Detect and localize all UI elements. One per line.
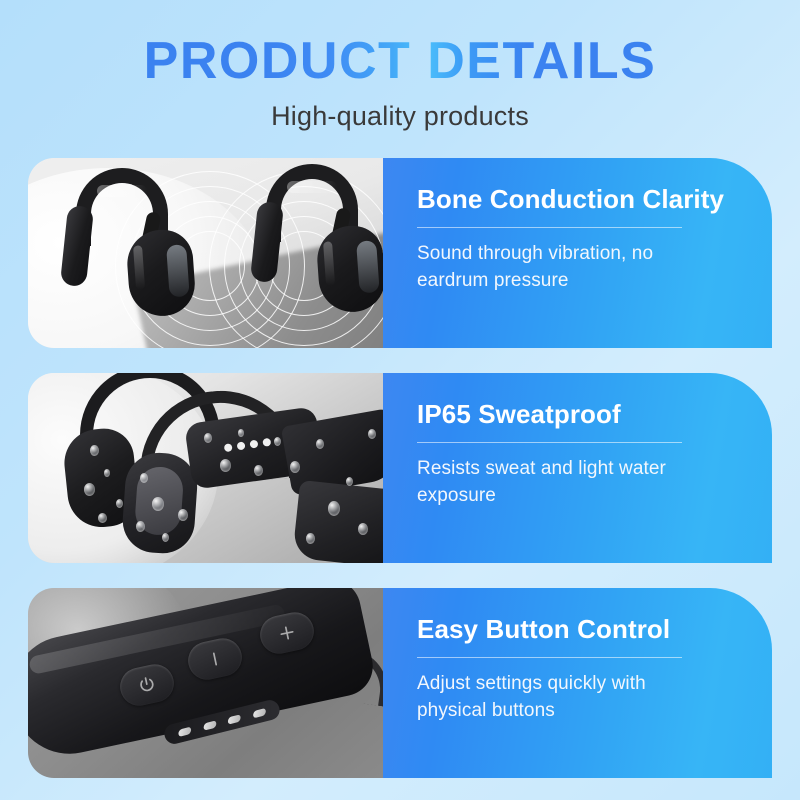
- water-droplet: [254, 465, 263, 476]
- water-droplet: [90, 445, 99, 456]
- water-droplet: [136, 521, 145, 532]
- water-droplet: [220, 459, 231, 472]
- feature-card-list: Bone Conduction Clarity Sound through vi…: [28, 158, 772, 800]
- water-droplet: [204, 433, 212, 443]
- led-slot: [178, 726, 191, 736]
- product-image-waterproof: [28, 373, 383, 563]
- water-droplet: [178, 509, 188, 521]
- water-droplet: [316, 439, 324, 449]
- product-image-bone-conduction: [28, 158, 383, 348]
- power-icon: [135, 673, 159, 697]
- earhook-arm: [250, 201, 284, 283]
- water-droplet: [358, 523, 368, 535]
- feature-title: Easy Button Control: [417, 614, 742, 645]
- plus-icon: [275, 621, 299, 645]
- page-header: PRODUCT DETAILS High-quality products: [0, 0, 800, 132]
- feature-description: Resists sweat and light water exposure: [417, 456, 717, 510]
- feature-text-panel: Easy Button Control Adjust settings quic…: [383, 588, 772, 778]
- water-droplet: [104, 469, 110, 477]
- led-dot: [262, 438, 271, 447]
- water-droplet: [140, 473, 148, 483]
- water-droplet: [328, 501, 340, 516]
- feature-description: Sound through vibration, no eardrum pres…: [417, 241, 717, 295]
- minus-icon: [203, 647, 227, 671]
- water-droplet: [346, 477, 353, 486]
- feature-description: Adjust settings quickly with physical bu…: [417, 671, 717, 725]
- neckband-lower: [292, 480, 383, 563]
- led-dot: [224, 443, 233, 452]
- led-slot: [228, 714, 241, 724]
- led-dot: [237, 441, 246, 450]
- feature-divider: [417, 657, 682, 658]
- feature-card: Easy Button Control Adjust settings quic…: [28, 588, 772, 778]
- product-image-button-control: [28, 588, 383, 778]
- water-droplet: [116, 499, 123, 508]
- water-droplet: [98, 513, 107, 523]
- water-droplet: [162, 533, 169, 542]
- page-title: PRODUCT DETAILS: [0, 34, 800, 89]
- earhook-transducer-pod: [125, 228, 197, 318]
- water-droplet: [238, 429, 244, 437]
- water-droplet: [368, 429, 376, 439]
- feature-text-panel: Bone Conduction Clarity Sound through vi…: [383, 158, 772, 348]
- water-droplet: [84, 483, 95, 496]
- earhook-right: [248, 160, 383, 330]
- feature-card: Bone Conduction Clarity Sound through vi…: [28, 158, 772, 348]
- page-subtitle: High-quality products: [0, 101, 800, 132]
- water-droplet: [306, 533, 315, 544]
- led-slot: [253, 708, 266, 718]
- water-droplet: [152, 497, 164, 511]
- feature-text-panel: IP65 Sweatproof Resists sweat and light …: [383, 373, 772, 563]
- earhook-left: [58, 164, 208, 334]
- earhook-transducer-pod: [315, 224, 383, 314]
- feature-title: Bone Conduction Clarity: [417, 184, 742, 215]
- earhook-arm: [60, 205, 94, 287]
- feature-title: IP65 Sweatproof: [417, 399, 742, 430]
- feature-divider: [417, 442, 682, 443]
- feature-card: IP65 Sweatproof Resists sweat and light …: [28, 373, 772, 563]
- water-droplet: [274, 437, 281, 446]
- led-dot: [249, 440, 258, 449]
- led-slot: [203, 720, 216, 730]
- feature-divider: [417, 227, 682, 228]
- water-droplet: [290, 461, 300, 473]
